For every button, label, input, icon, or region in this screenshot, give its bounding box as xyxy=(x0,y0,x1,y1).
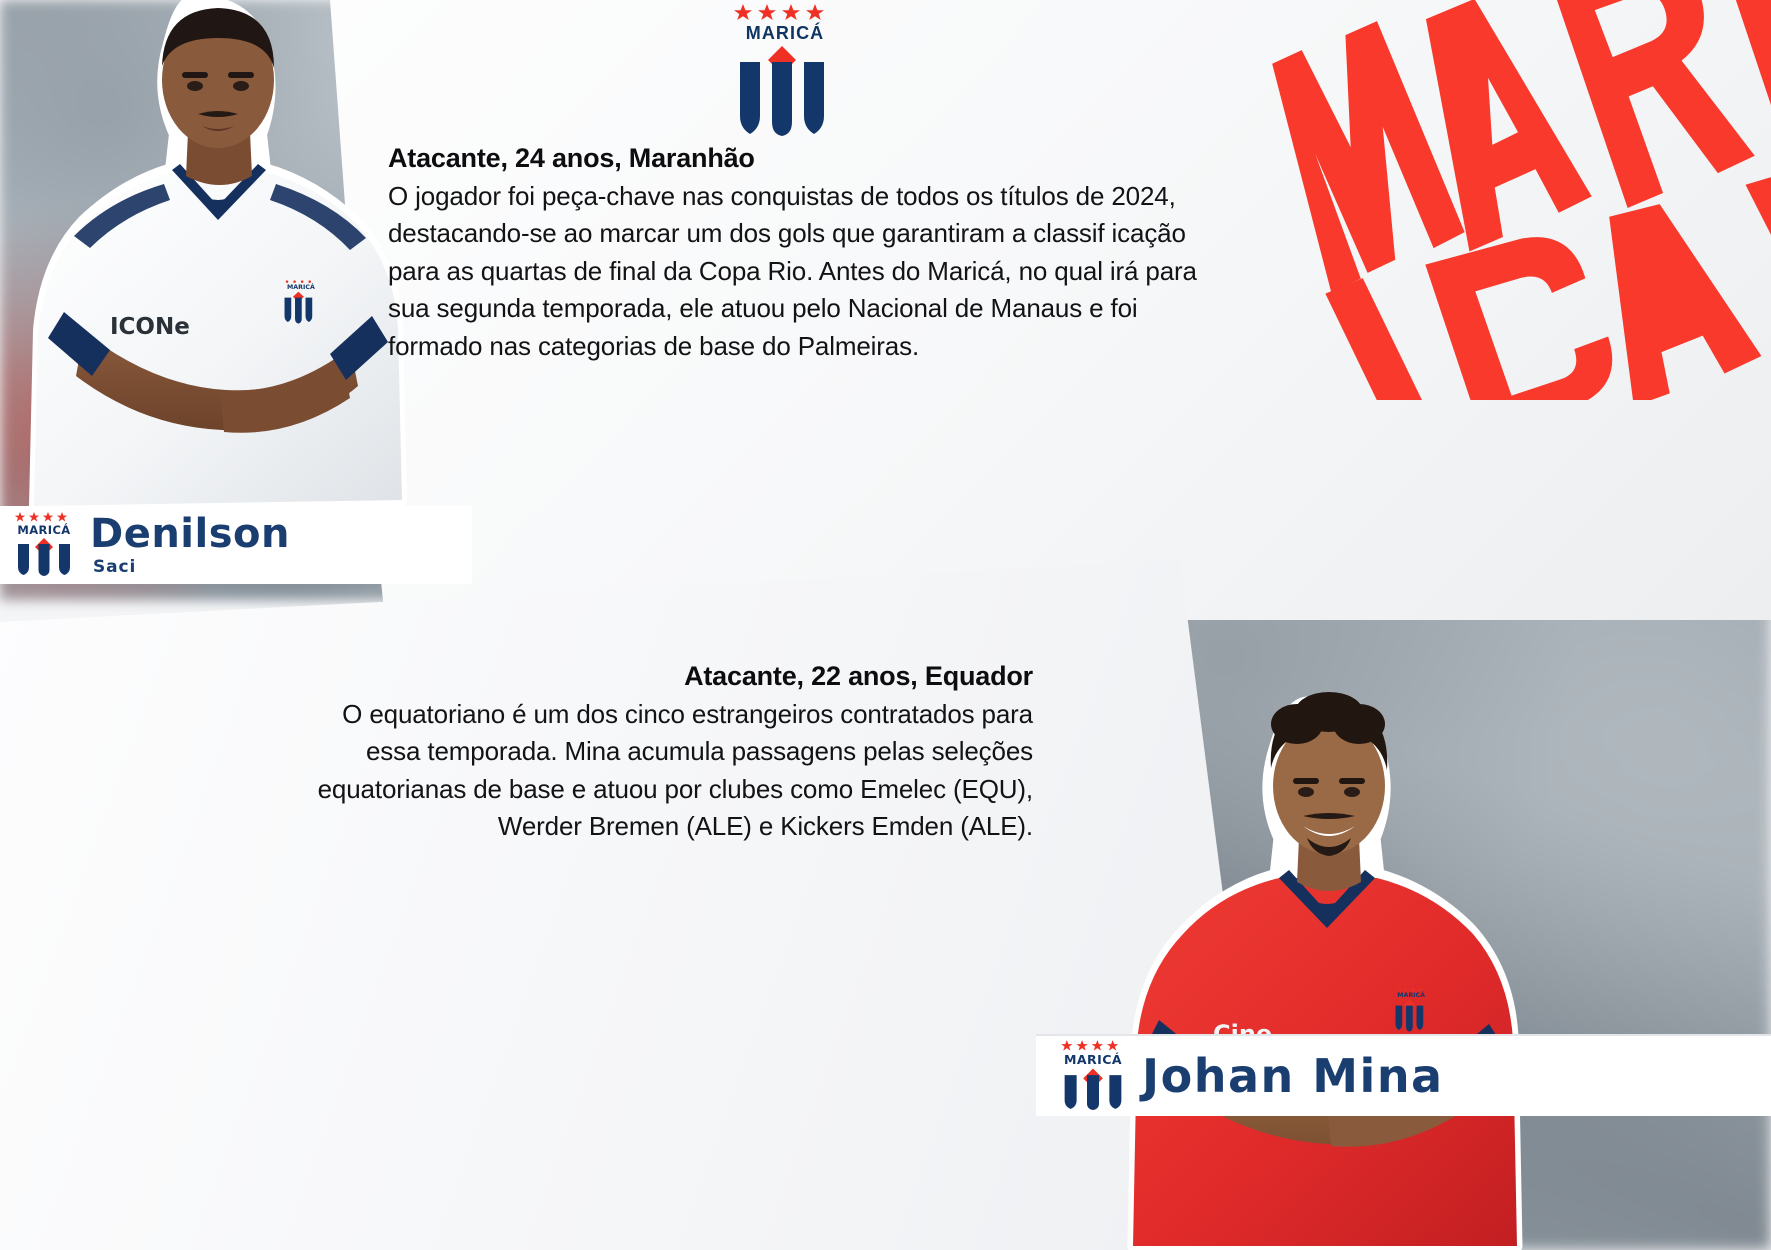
player-2-bio: O equatoriano é um dos cinco estrangeiro… xyxy=(88,696,1033,846)
nameplate-johan-mina: MARICÁ Johan Mina xyxy=(1036,1036,1771,1116)
bio-line: Werder Bremen (ALE) e Kickers Emden (ALE… xyxy=(88,808,1033,845)
player-1-bio: O jogador foi peça-chave nas conquistas … xyxy=(388,178,1428,365)
player-2-headline: Atacante, 22 anos, Equador xyxy=(88,660,1033,693)
bio-line: equatorianas de base e atuou por clubes … xyxy=(88,771,1033,808)
player-2-name: Johan Mina xyxy=(1142,1053,1444,1099)
nameplate-denilson: MARICÁ Denilson Saci xyxy=(0,506,472,584)
bio-line: destacando-se ao marcar um dos gols que … xyxy=(388,215,1428,252)
player-photo-denilson: ICONe MARICÁ xyxy=(14,0,414,534)
crest-shield xyxy=(730,44,840,141)
nameplate-2-names: Johan Mina xyxy=(1142,1053,1444,1099)
svg-text:ICONe: ICONe xyxy=(110,314,190,340)
club-crest-nameplate-1: MARICÁ xyxy=(12,510,76,581)
poster-canvas: MARICÁ xyxy=(0,0,1771,1250)
player-1-nickname: Saci xyxy=(93,559,290,576)
svg-text:MARICÁ: MARICÁ xyxy=(1064,1052,1122,1067)
bio-line: formado nas categorias de base do Palmei… xyxy=(388,328,1428,365)
bio-line: para as quartas de final da Copa Rio. An… xyxy=(388,253,1428,290)
bio-line: essa temporada. Mina acumula passagens p… xyxy=(88,733,1033,770)
player-2-text-block: Atacante, 22 anos, Equador O equatoriano… xyxy=(88,660,1033,846)
bio-line: O equatoriano é um dos cinco estrangeiro… xyxy=(88,696,1033,733)
nameplate-2-divider xyxy=(1036,1034,1771,1036)
player-1-text-block: Atacante, 24 anos, Maranhão O jogador fo… xyxy=(388,142,1428,365)
club-crest-top: MARICÁ xyxy=(730,4,840,134)
bio-line: O jogador foi peça-chave nas conquistas … xyxy=(388,178,1428,215)
crest-stars xyxy=(730,4,840,20)
player-photo-johan-mina: Cine MARICÁ xyxy=(1111,690,1531,1250)
player-1-headline: Atacante, 24 anos, Maranhão xyxy=(388,142,1428,175)
svg-text:MARICÁ: MARICÁ xyxy=(17,522,70,537)
bio-line: sua segunda temporada, ele atuou pelo Na… xyxy=(388,290,1428,327)
crest-wordmark: MARICÁ xyxy=(730,23,840,44)
player-1-name: Denilson xyxy=(90,514,290,554)
nameplate-1-names: Denilson Saci xyxy=(90,514,290,576)
club-crest-nameplate-2: MARICÁ xyxy=(1058,1038,1128,1115)
